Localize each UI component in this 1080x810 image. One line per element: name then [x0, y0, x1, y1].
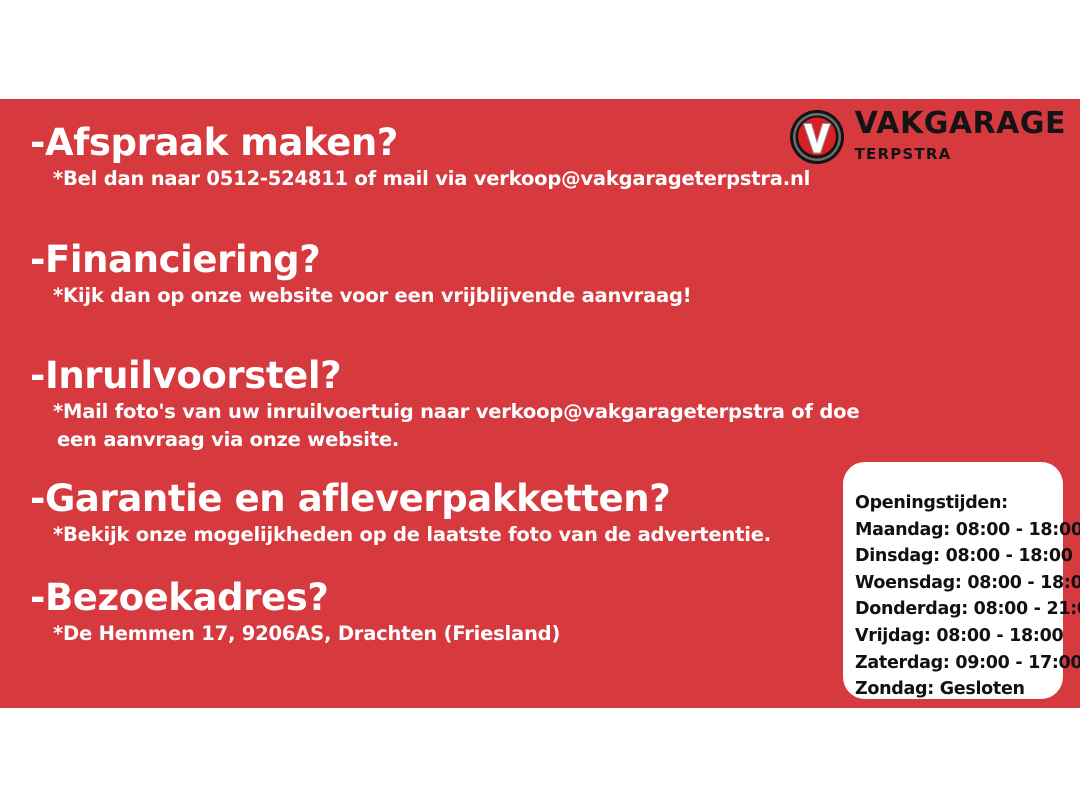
section-inruilvoorstel: -Inruilvoorstel? *Mail foto's van uw inr…	[30, 356, 850, 453]
info-sections: -Afspraak maken? *Bel dan naar 0512-5248…	[30, 123, 850, 648]
section-spacer	[30, 548, 850, 578]
section-lines: *Bekijk onze mogelijkheden op de laatste…	[53, 521, 850, 549]
section-spacer	[30, 454, 850, 479]
poster: VAKGARAGE Terpstra -Afspraak maken? *Bel…	[0, 0, 1080, 810]
section-heading: -Inruilvoorstel?	[30, 356, 850, 396]
opening-hours-card: Openingstijden: Maandag: 08:00 - 18:00 D…	[843, 462, 1063, 699]
section-line: *Bel dan naar 0512-524811 of mail via ve…	[53, 165, 850, 193]
opening-hours-row-sunday: Zondag: Gesloten	[855, 676, 1063, 703]
section-line: *Mail foto's van uw inruilvoertuig naar …	[53, 398, 850, 426]
section-garantie: -Garantie en afleverpakketten? *Bekijk o…	[30, 479, 850, 549]
section-lines: *Bel dan naar 0512-524811 of mail via ve…	[53, 165, 850, 193]
opening-hours-row-tuesday: Dinsdag: 08:00 - 18:00	[855, 543, 1063, 570]
section-line: *Bekijk onze mogelijkheden op de laatste…	[53, 521, 850, 549]
opening-hours-row-wednesday: Woensdag: 08:00 - 18:00	[855, 570, 1063, 597]
opening-hours-row-thursday: Donderdag: 08:00 - 21:00	[855, 596, 1063, 623]
section-spacer	[30, 193, 850, 240]
section-line: *De Hemmen 17, 9206AS, Drachten (Friesla…	[53, 620, 850, 648]
logo-dealer-text: Terpstra	[855, 139, 1066, 165]
opening-hours-row-friday: Vrijdag: 08:00 - 18:00	[855, 623, 1063, 650]
section-line: *Kijk dan op onze website voor een vrijb…	[53, 282, 850, 310]
opening-hours-row-monday: Maandag: 08:00 - 18:00	[855, 517, 1063, 544]
section-heading: -Bezoekadres?	[30, 578, 850, 618]
section-spacer	[30, 309, 850, 356]
section-heading: -Garantie en afleverpakketten?	[30, 479, 850, 519]
section-heading: -Afspraak maken?	[30, 123, 850, 163]
red-banner: VAKGARAGE Terpstra -Afspraak maken? *Bel…	[0, 99, 1080, 708]
section-lines: *De Hemmen 17, 9206AS, Drachten (Friesla…	[53, 620, 850, 648]
opening-hours-row-saturday: Zaterdag: 09:00 - 17:00	[855, 650, 1063, 677]
section-bezoekadres: -Bezoekadres? *De Hemmen 17, 9206AS, Dra…	[30, 578, 850, 648]
opening-hours-title: Openingstijden:	[855, 490, 1063, 517]
section-line: een aanvraag via onze website.	[57, 426, 850, 454]
section-lines: *Mail foto's van uw inruilvoertuig naar …	[53, 398, 850, 453]
logo-brand-text: VAKGARAGE	[855, 109, 1066, 139]
section-heading: -Financiering?	[30, 240, 850, 280]
section-lines: *Kijk dan op onze website voor een vrijb…	[53, 282, 850, 310]
section-financiering: -Financiering? *Kijk dan op onze website…	[30, 240, 850, 310]
logo-wordmark: VAKGARAGE Terpstra	[855, 109, 1066, 165]
section-afspraak: -Afspraak maken? *Bel dan naar 0512-5248…	[30, 123, 850, 193]
